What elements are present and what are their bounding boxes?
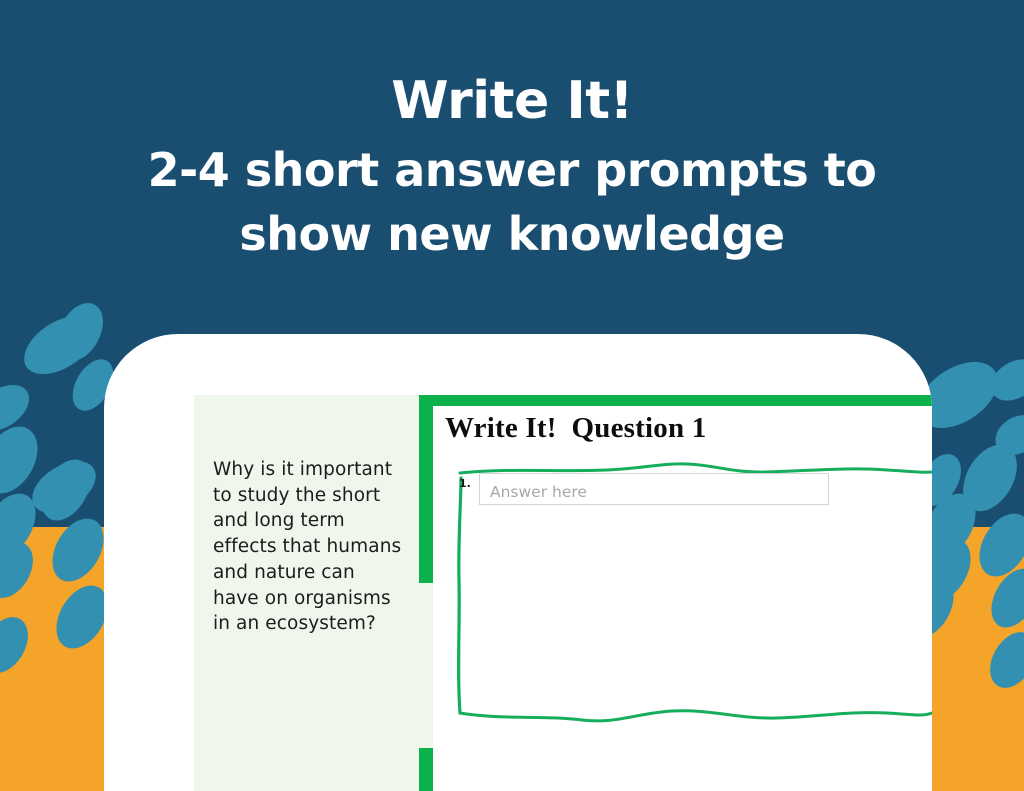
slide-canvas: Why is it important to study the short a… — [0, 0, 1024, 791]
background-band-orange — [0, 527, 1024, 791]
headline-block: Write It! 2-4 short answer prompts to sh… — [0, 0, 1024, 266]
page-title: Write It! — [0, 72, 1024, 130]
page-subtitle: 2-4 short answer prompts to show new kno… — [0, 138, 1024, 266]
